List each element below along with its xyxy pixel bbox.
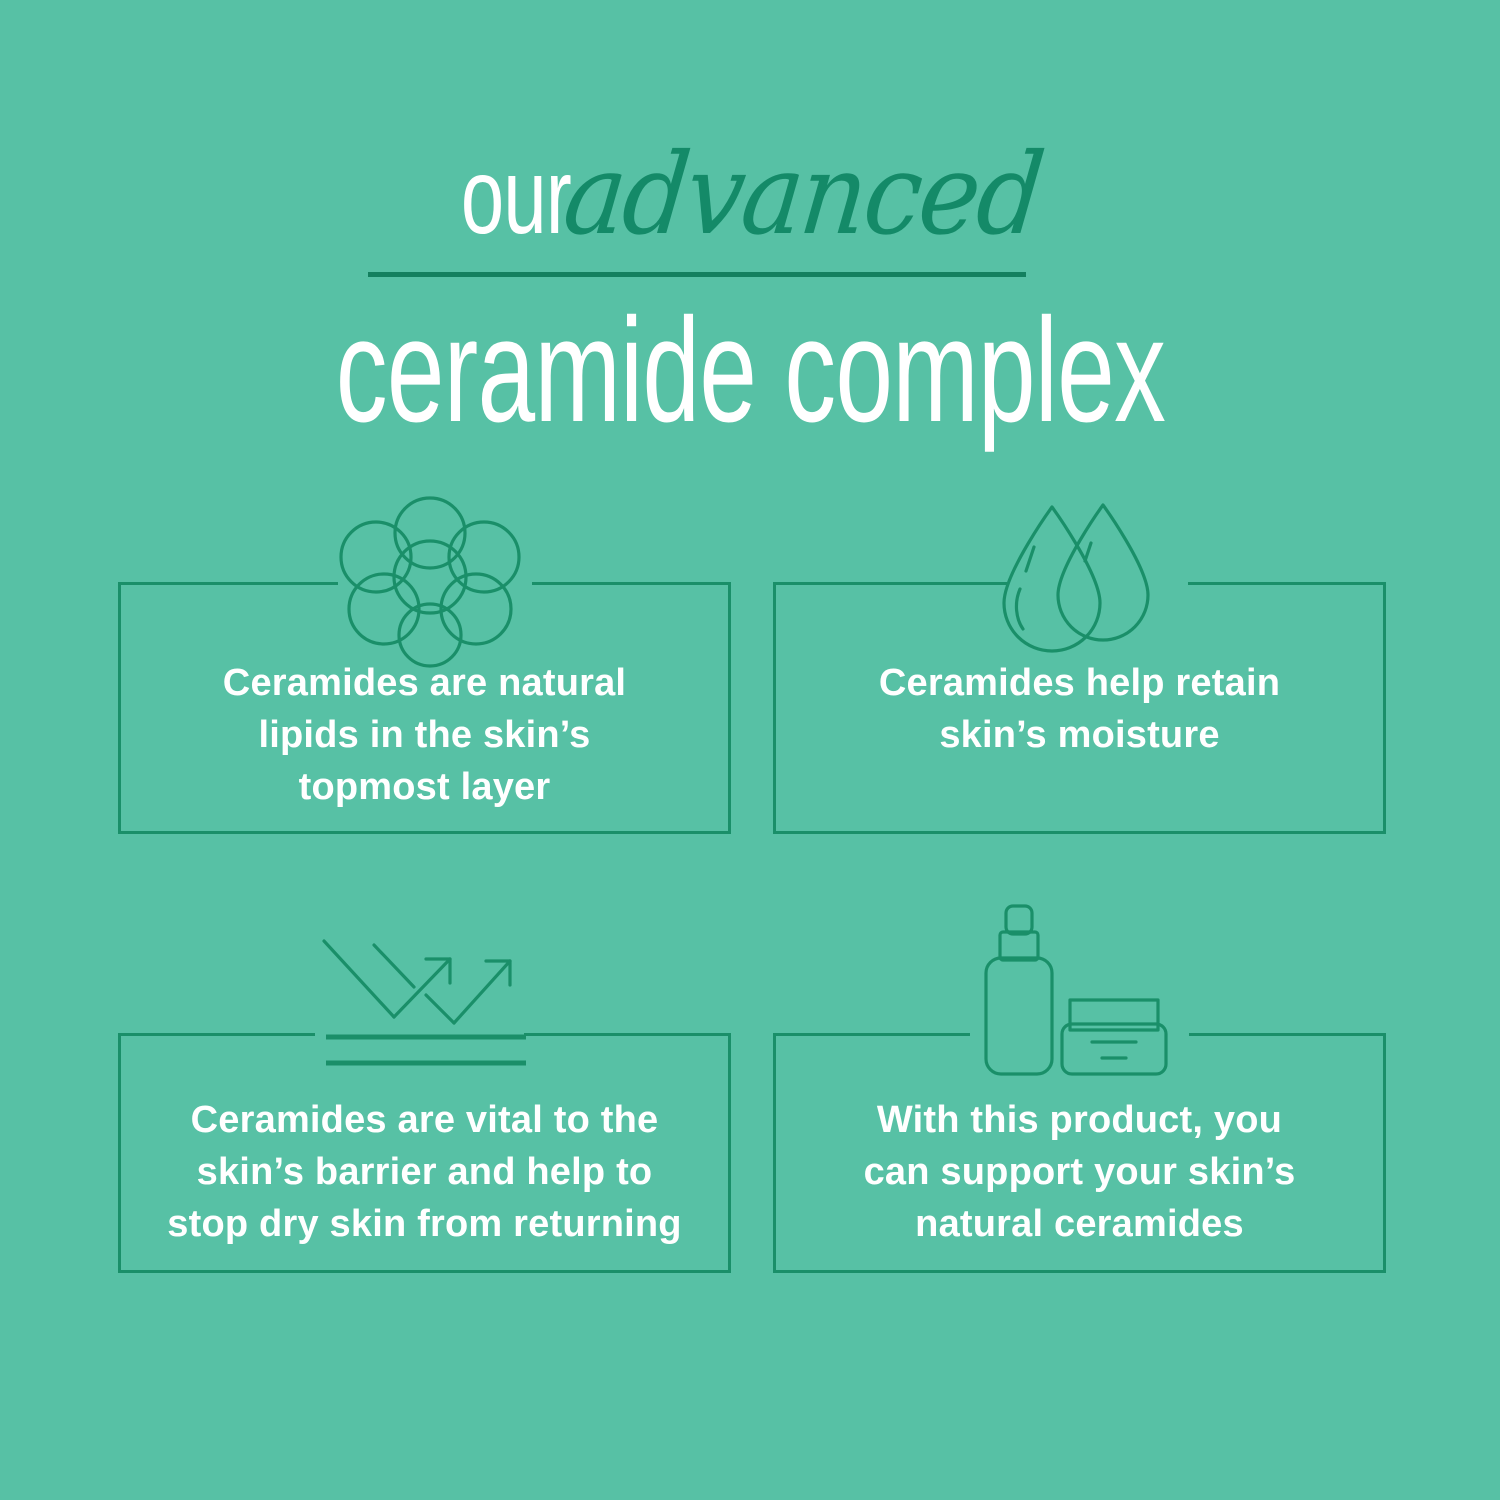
card-text-line: lipids in the skin’s	[139, 709, 710, 761]
card-text-line: stop dry skin from returning	[139, 1198, 710, 1250]
headline-underline-rule	[368, 272, 1026, 277]
card-text: Ceramides are vital to the skin’s barrie…	[121, 1094, 728, 1250]
card-skin-barrier: Ceramides are vital to the skin’s barrie…	[118, 1036, 731, 1273]
card-border-top-right-segment	[1189, 1033, 1386, 1036]
card-support-ceramides: With this product, you can support your …	[773, 1036, 1386, 1273]
card-border-top-left-segment	[773, 582, 1007, 585]
card-border-top-right-segment	[524, 1033, 731, 1036]
card-text-line: Ceramides are vital to the	[139, 1094, 710, 1146]
card-text-line: Ceramides are natural	[139, 657, 710, 709]
card-border-top-right-segment	[1188, 582, 1386, 585]
headline-block: ouradvanced	[0, 130, 1500, 260]
card-text-line: can support your skin’s	[794, 1146, 1365, 1198]
headline-line-one: ouradvanced	[0, 130, 1500, 260]
card-text-line: natural ceramides	[794, 1198, 1365, 1250]
card-border-top-right-segment	[532, 582, 731, 585]
card-border-top-left-segment	[118, 1033, 315, 1036]
card-text-line: skin’s barrier and help to	[139, 1146, 710, 1198]
infographic-canvas: ouradvanced ceramide complex	[0, 0, 1500, 1500]
card-text-line: Ceramides help retain	[794, 657, 1365, 709]
card-natural-lipids: Ceramides are natural lipids in the skin…	[118, 585, 731, 834]
card-text-line: With this product, you	[794, 1094, 1365, 1146]
card-text: Ceramides help retain skin’s moisture	[776, 657, 1383, 761]
card-text: With this product, you can support your …	[776, 1094, 1383, 1250]
card-border-top-left-segment	[118, 582, 338, 585]
card-border-top-left-segment	[773, 1033, 970, 1036]
card-text: Ceramides are natural lipids in the skin…	[121, 657, 728, 813]
headline-word-advanced-script: advanced	[558, 130, 1048, 260]
headline-word-our: our	[461, 131, 571, 261]
card-text-line: skin’s moisture	[794, 709, 1365, 761]
card-retain-moisture: Ceramides help retain skin’s moisture	[773, 585, 1386, 834]
headline-line-two: ceramide complex	[0, 296, 1500, 446]
headline-line-two-text: ceramide complex	[335, 296, 1164, 446]
card-text-line: topmost layer	[139, 761, 710, 813]
